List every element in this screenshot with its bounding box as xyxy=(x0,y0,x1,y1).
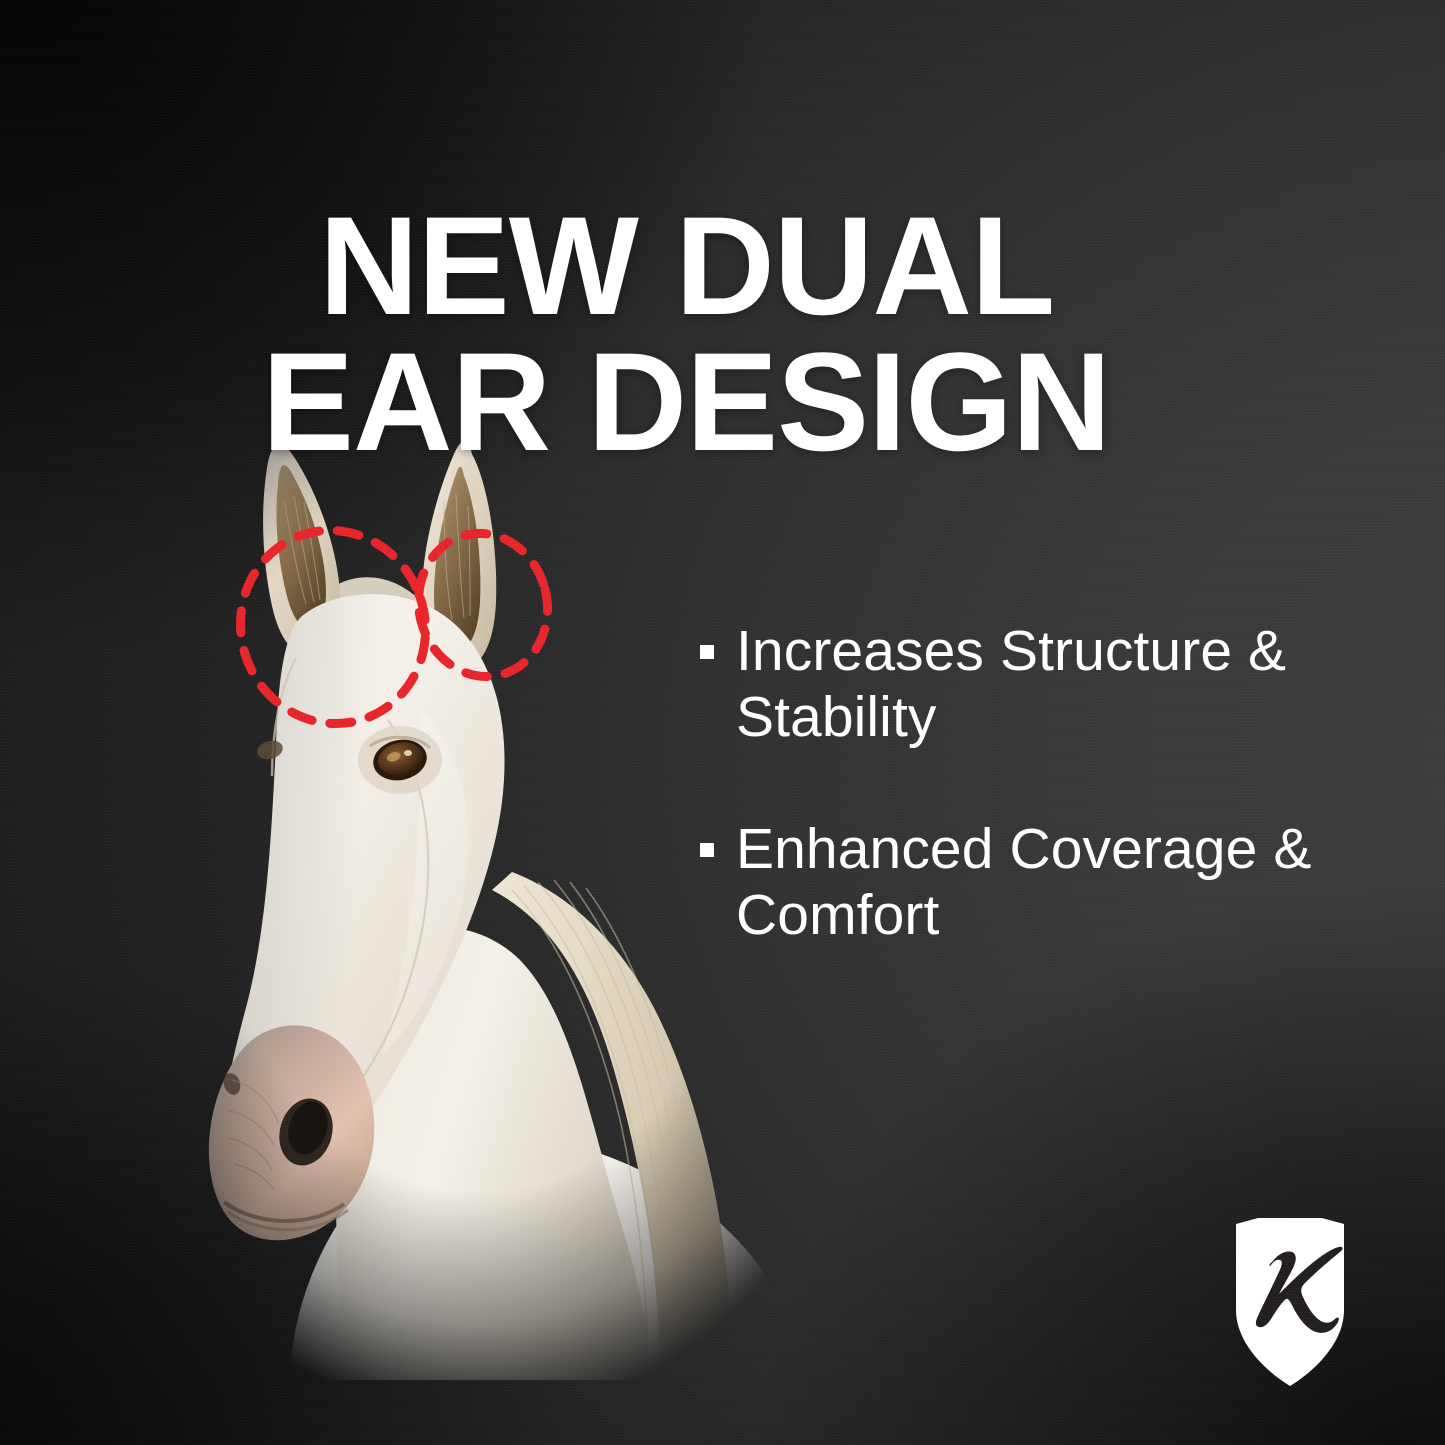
square-bullet-icon xyxy=(700,843,714,857)
list-item: Enhanced Coverage & Comfort xyxy=(700,816,1380,948)
ad-creative-canvas: NEW DUAL EAR DESIGN Increases Structure … xyxy=(0,0,1445,1445)
shield-icon xyxy=(1236,1218,1344,1386)
headline-line-1: NEW DUAL xyxy=(262,198,1208,334)
feature-list: Increases Structure & Stability Enhanced… xyxy=(700,618,1380,1014)
feature-text: Increases Structure & Stability xyxy=(736,618,1380,750)
list-item: Increases Structure & Stability xyxy=(700,618,1380,750)
headline-line-2: EAR DESIGN xyxy=(262,334,1208,470)
feature-text: Enhanced Coverage & Comfort xyxy=(736,816,1380,948)
square-bullet-icon xyxy=(700,645,714,659)
page-title: NEW DUAL EAR DESIGN xyxy=(262,198,1222,470)
brand-logo xyxy=(1206,1218,1374,1388)
